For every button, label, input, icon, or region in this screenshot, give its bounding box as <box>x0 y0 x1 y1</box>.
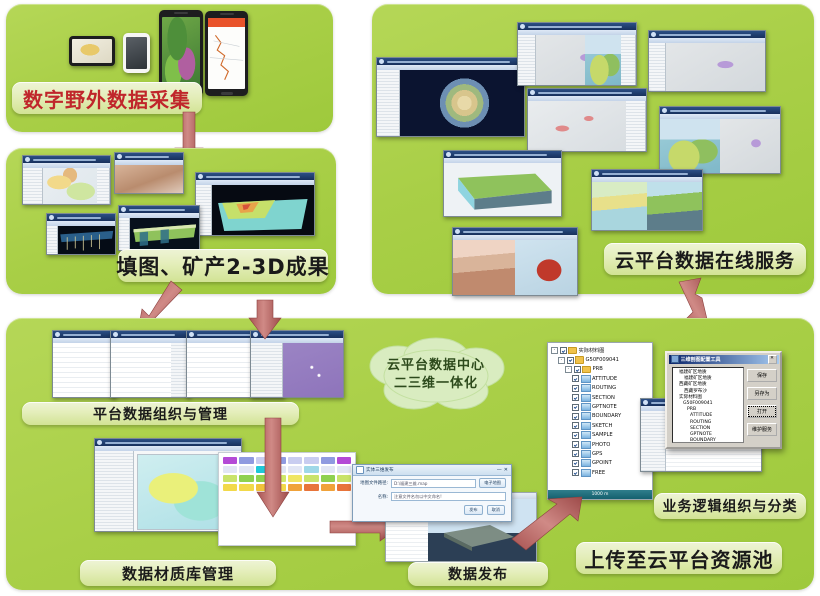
cloud-callout: 云平台数据中心 二三维一体化 <box>356 336 516 414</box>
titlebar-text <box>63 334 101 336</box>
phone-speaker <box>174 12 188 14</box>
tree-node[interactable]: SKETCH <box>548 421 652 430</box>
titlebar-text <box>670 110 766 112</box>
window-icon <box>97 440 102 445</box>
layer-checkbox[interactable] <box>560 347 567 354</box>
tree-node[interactable]: ATTITUDE <box>548 374 652 383</box>
layer-icon <box>581 431 591 439</box>
window-icon <box>379 59 384 64</box>
window-icon <box>643 400 648 405</box>
config-tree-list[interactable]: 福建矿区地质福建矿区地质西藏矿区地质西藏罗布沙实际材料图G50F009041PR… <box>672 367 744 443</box>
window-icon <box>113 332 118 337</box>
browser-dual-3d-view[interactable] <box>591 169 703 231</box>
palette-swatch[interactable] <box>288 484 302 491</box>
titlebar <box>453 228 577 235</box>
layer-tree-rows[interactable]: -实际材料图-G50F009041-PRBATTITUDEROUTINGSECT… <box>548 343 652 477</box>
caption-material-library: 数据材质库管理 <box>80 560 276 586</box>
dialog-titlebar[interactable]: 三维剖图配置工具 ✕ <box>669 355 779 364</box>
config-dialog[interactable]: 三维剖图配置工具 ✕ 福建矿区地质福建矿区地质西藏矿区地质西藏罗布沙实际材料图G… <box>665 351 782 449</box>
layer-panel <box>47 226 58 254</box>
layer-icon <box>581 375 591 383</box>
phone-speaker <box>220 13 234 15</box>
window-body <box>649 43 765 91</box>
tree-node[interactable]: ROUTING <box>548 384 652 393</box>
layer-checkbox[interactable] <box>572 432 579 439</box>
window-icon <box>25 157 30 162</box>
layer-tree-window[interactable]: -实际材料图-G50F009041-PRBATTITUDEROUTINGSECT… <box>547 342 653 500</box>
map-canvas-right <box>720 119 780 173</box>
caption-upload-to-pool: 上传至云平台资源池 <box>576 542 782 574</box>
window-body <box>47 226 115 254</box>
palette-swatch[interactable] <box>223 457 237 464</box>
app-header-bar <box>208 18 245 27</box>
palette-swatch[interactable] <box>321 484 335 491</box>
titlebar <box>649 31 765 38</box>
layer-tree-panel <box>649 43 666 91</box>
titlebar <box>660 107 780 114</box>
attribute-panel <box>621 35 636 85</box>
field-row-path: 地图文件路径: D:\福建三维.map 电子地图 <box>353 476 511 490</box>
close-icon[interactable]: ✕ <box>504 467 508 473</box>
palette-swatch[interactable] <box>288 466 302 473</box>
titlebar <box>518 23 636 30</box>
titlebar-text <box>33 159 96 161</box>
titlebar <box>196 173 314 180</box>
layer-checkbox[interactable] <box>572 441 579 448</box>
layer-tree-panel <box>641 411 666 471</box>
config-dialog-button[interactable]: 打开 <box>747 405 777 418</box>
publish-dialog[interactable]: 实体三维发布 — ✕ 地图文件路径: D:\福建三维.map 电子地图 名称: … <box>352 464 512 522</box>
palette-swatch[interactable] <box>321 475 335 482</box>
titlebar <box>23 156 110 163</box>
cloud-line-2: 二三维一体化 <box>394 375 478 393</box>
map-canvas <box>666 43 765 91</box>
close-icon[interactable]: ✕ <box>768 355 777 364</box>
tree-node-label: SAMPLE <box>592 432 613 438</box>
window-icon <box>49 215 54 220</box>
section-canvas-left <box>453 240 515 295</box>
layer-icon <box>581 469 591 477</box>
config-tree-item[interactable]: BOUNDARY <box>676 438 743 443</box>
photo-canvas <box>115 165 183 193</box>
arrow-down-org-to-material <box>256 418 290 518</box>
config-dialog-button[interactable]: 另存为 <box>747 387 777 400</box>
layer-icon <box>581 394 591 402</box>
titlebar-text <box>105 442 227 444</box>
window-body <box>377 70 524 136</box>
titlebar-text <box>387 61 510 63</box>
thumb-3d-section-fence[interactable] <box>118 205 200 251</box>
window-body <box>111 343 189 397</box>
tree-node-label: PHOTO <box>592 442 610 448</box>
palette-swatch[interactable] <box>239 484 253 491</box>
titlebar <box>592 170 702 177</box>
scene-3d-canvas <box>130 218 199 250</box>
layer-checkbox[interactable] <box>572 394 579 401</box>
palette-swatch[interactable] <box>337 484 351 491</box>
palette-swatch[interactable] <box>223 475 237 482</box>
layer-checkbox[interactable] <box>572 385 579 392</box>
expander-icon[interactable]: - <box>558 357 565 364</box>
scene-3d-canvas <box>58 226 115 254</box>
thumb-geological-map-sheet[interactable] <box>22 155 111 205</box>
map-canvas <box>536 35 621 85</box>
app-icon <box>671 355 679 363</box>
window-body <box>528 101 646 151</box>
titlebar <box>444 151 561 158</box>
terrain-canvas-left <box>660 119 720 173</box>
table-grid <box>53 343 115 397</box>
dialog-footer: 发布 取消 <box>353 503 511 519</box>
window-icon <box>455 229 460 234</box>
titlebar-text <box>129 209 185 211</box>
config-dialog-button[interactable]: 维护服务 <box>747 423 777 436</box>
palette-swatch[interactable] <box>223 466 237 473</box>
palette-swatch[interactable] <box>337 457 351 464</box>
palette-swatch[interactable] <box>321 457 335 464</box>
titlebar-text <box>454 154 547 156</box>
browser-split-terrain-view[interactable] <box>659 106 781 174</box>
caption-data-publish: 数据发布 <box>408 562 548 586</box>
palette-swatch[interactable] <box>337 466 351 473</box>
layer-icon <box>581 450 591 458</box>
titlebar <box>115 153 183 160</box>
layer-icon <box>581 459 591 467</box>
figure-canvas: 数字野外数据采集 <box>0 0 820 596</box>
tablet-screen <box>72 39 112 63</box>
block-model-canvas <box>444 163 561 216</box>
attribute-panel <box>626 101 646 151</box>
layer-tree-panel <box>95 451 134 531</box>
model-canvas-right <box>647 182 702 230</box>
window-body <box>453 240 577 295</box>
layer-panel <box>119 218 130 250</box>
block-model <box>444 163 561 216</box>
window-body <box>119 218 199 250</box>
caption-cloud-online-service: 云平台数据在线服务 <box>604 243 806 275</box>
browser-geology-section-view[interactable] <box>452 227 578 296</box>
window-icon <box>117 154 122 159</box>
titlebar-text <box>528 26 622 28</box>
window-icon <box>651 32 656 37</box>
tree-node[interactable]: PHOTO <box>548 440 652 449</box>
titlebar-text <box>538 92 632 94</box>
window-icon <box>662 108 667 113</box>
arrow-up-publish-to-tree <box>510 495 584 553</box>
thumb-3d-terrain-model[interactable] <box>195 172 315 236</box>
palette-swatch[interactable] <box>223 484 237 491</box>
palette-swatch[interactable] <box>304 466 318 473</box>
browser-structure-map-view[interactable] <box>648 30 766 92</box>
palette-swatch[interactable] <box>321 466 335 473</box>
raster-canvas <box>283 343 343 397</box>
browser-globe-view[interactable] <box>376 57 525 137</box>
palette-swatch[interactable] <box>304 457 318 464</box>
tree-node-label: PRB <box>593 366 603 372</box>
tree-node[interactable]: FREE <box>548 468 652 477</box>
cancel-button[interactable]: 取消 <box>487 505 505 515</box>
window-icon <box>530 90 535 95</box>
titlebar <box>528 89 646 96</box>
layer-checkbox[interactable] <box>572 413 579 420</box>
phone-routing-screen <box>208 18 245 89</box>
window-icon <box>594 171 599 176</box>
thumb-drillhole-3d-view[interactable] <box>46 213 116 255</box>
window-body <box>592 182 702 230</box>
layer-icon <box>581 422 591 430</box>
palette-swatch[interactable] <box>337 475 351 482</box>
terrain-surface <box>212 185 314 235</box>
phone-geomap-screen <box>162 17 200 89</box>
titlebar-text <box>125 156 169 158</box>
dialog-titlebar[interactable]: 实体三维发布 — ✕ <box>353 465 511 476</box>
route-track-svg <box>208 27 245 88</box>
attribute-panel <box>97 168 110 204</box>
tree-node-label: SECTION <box>592 395 615 401</box>
layer-checkbox[interactable] <box>572 460 579 467</box>
window-body <box>660 119 780 173</box>
minimize-icon[interactable]: — <box>497 467 502 473</box>
palette-swatch[interactable] <box>304 475 318 482</box>
map-canvas <box>43 168 97 204</box>
globe-canvas <box>400 70 524 136</box>
model-canvas-left <box>592 182 647 230</box>
phone-home-button[interactable] <box>221 92 233 95</box>
browser-vector-map-view[interactable] <box>517 22 637 86</box>
layer-icon <box>581 403 591 411</box>
tree-node[interactable]: GPTNOTE <box>548 402 652 411</box>
tree-node-label: ROUTING <box>592 385 616 391</box>
layer-checkbox[interactable] <box>572 469 579 476</box>
field-row-name: 名称: 注意文件名勿以中文命名! <box>353 490 511 503</box>
map-canvas <box>528 101 626 151</box>
cloud-line-1: 云平台数据中心 <box>387 357 485 375</box>
tree-node-label: 实际材料图 <box>579 347 605 354</box>
folder-icon <box>575 356 584 364</box>
window-body <box>444 163 561 216</box>
palette-swatch[interactable] <box>239 466 253 473</box>
titlebar <box>119 206 199 213</box>
browse-button[interactable]: 电子地图 <box>479 478 506 488</box>
expander-icon[interactable]: - <box>565 366 572 373</box>
folder-icon <box>582 366 591 374</box>
tree-node-label: GPTNOTE <box>592 404 617 410</box>
table-grid <box>111 343 171 397</box>
layer-checkbox[interactable] <box>572 422 579 429</box>
window-icon <box>198 174 203 179</box>
drillholes <box>58 226 115 254</box>
publish-button[interactable]: 发布 <box>464 505 482 515</box>
tree-node[interactable]: GPOINT <box>548 459 652 468</box>
tree-node-label: GPS <box>592 451 602 457</box>
window-body <box>115 165 183 193</box>
thumb-raster-image-window[interactable] <box>250 330 344 398</box>
tree-node-label: ATTITUDE <box>592 376 617 382</box>
device-tablet-map <box>69 36 115 66</box>
browser-fault-map-view[interactable] <box>527 88 647 152</box>
tree-node[interactable]: SAMPLE <box>548 431 652 440</box>
name-input[interactable]: 注意文件名勿以中文命名! <box>391 492 506 501</box>
caption-business-logic: 业务逻辑组织与分类 <box>654 493 806 519</box>
titlebar <box>47 214 115 221</box>
tree-node[interactable]: BOUNDARY <box>548 412 652 421</box>
layer-checkbox[interactable] <box>567 357 574 364</box>
layer-icon <box>581 384 591 392</box>
tree-node-label: BOUNDARY <box>592 413 621 419</box>
tree-node[interactable]: SECTION <box>548 393 652 402</box>
window-body <box>518 35 636 85</box>
window-body <box>196 185 314 235</box>
caption-mapping-results: 填图、矿产2-3D成果 <box>118 249 328 282</box>
scene-3d-canvas <box>212 185 314 235</box>
layer-tree-panel <box>518 35 536 85</box>
tree-node-label: SKETCH <box>592 423 612 429</box>
titlebar-text <box>659 34 751 36</box>
layer-checkbox[interactable] <box>574 366 581 373</box>
legend-panel <box>23 168 43 204</box>
titlebar-text <box>463 231 563 233</box>
palette-swatch[interactable] <box>288 457 302 464</box>
app-icon <box>356 466 364 474</box>
thumb-attribute-table-1[interactable] <box>52 330 116 398</box>
fence-diagram <box>130 218 199 250</box>
window-body <box>251 343 343 397</box>
folder-icon <box>568 347 577 355</box>
thumb-field-photo-window[interactable] <box>114 152 184 194</box>
browser-3d-block-model-view[interactable] <box>443 150 562 217</box>
window-icon <box>121 207 126 212</box>
dialog-title: 实体三维发布 <box>366 467 495 473</box>
window-icon <box>55 332 60 337</box>
palette-swatch[interactable] <box>239 457 253 464</box>
palette-swatch[interactable] <box>288 475 302 482</box>
config-tree-items[interactable]: 福建矿区地质福建矿区地质西藏矿区地质西藏罗布沙实际材料图G50F009041PR… <box>673 368 743 443</box>
titlebar-text <box>602 173 688 175</box>
titlebar <box>111 331 189 338</box>
palette-swatch[interactable] <box>239 475 253 482</box>
caption-field-collection: 数字野外数据采集 <box>12 82 202 114</box>
layer-icon <box>581 412 591 420</box>
tree-node[interactable]: -PRB <box>548 365 652 374</box>
titlebar <box>95 439 241 446</box>
device-rugged-gps <box>123 33 150 73</box>
tree-node[interactable]: -G50F009041 <box>548 355 652 364</box>
window-body <box>53 343 115 397</box>
tree-node[interactable]: GPS <box>548 449 652 458</box>
dialog-title: 三维剖图配置工具 <box>681 356 766 363</box>
tree-node-label: G50F009041 <box>586 357 619 363</box>
expander-icon[interactable]: - <box>551 347 558 354</box>
device-phone-routing <box>205 11 248 96</box>
titlebar-text <box>206 176 300 178</box>
orebody-canvas-right <box>515 240 577 295</box>
path-input[interactable]: D:\福建三维.map <box>391 479 476 488</box>
layer-checkbox[interactable] <box>572 375 579 382</box>
arrow-down-cloud-to-platform <box>248 300 282 340</box>
titlebar-text <box>57 217 101 219</box>
window-icon <box>520 24 525 29</box>
window-body <box>23 168 110 204</box>
tree-node-label: GPOINT <box>592 460 612 466</box>
layer-checkbox[interactable] <box>572 450 579 457</box>
titlebar-text <box>121 334 175 336</box>
layer-icon <box>581 441 591 449</box>
layer-checkbox[interactable] <box>572 404 579 411</box>
thumb-attribute-table-2[interactable] <box>110 330 190 398</box>
palette-swatch[interactable] <box>304 484 318 491</box>
field-label-name: 名称: <box>358 494 388 500</box>
tree-node-label: FREE <box>592 470 605 476</box>
layer-tree-panel <box>377 70 400 136</box>
titlebar <box>377 58 524 65</box>
titlebar <box>53 331 115 338</box>
layer-tree-panel <box>251 343 283 397</box>
tree-node[interactable]: -实际材料图 <box>548 346 652 355</box>
inset-terrain <box>585 35 621 85</box>
window-icon <box>446 152 451 157</box>
gps-screen <box>126 37 147 69</box>
config-dialog-button[interactable]: 保存 <box>747 369 777 382</box>
field-label-path: 地图文件路径: <box>358 480 388 486</box>
